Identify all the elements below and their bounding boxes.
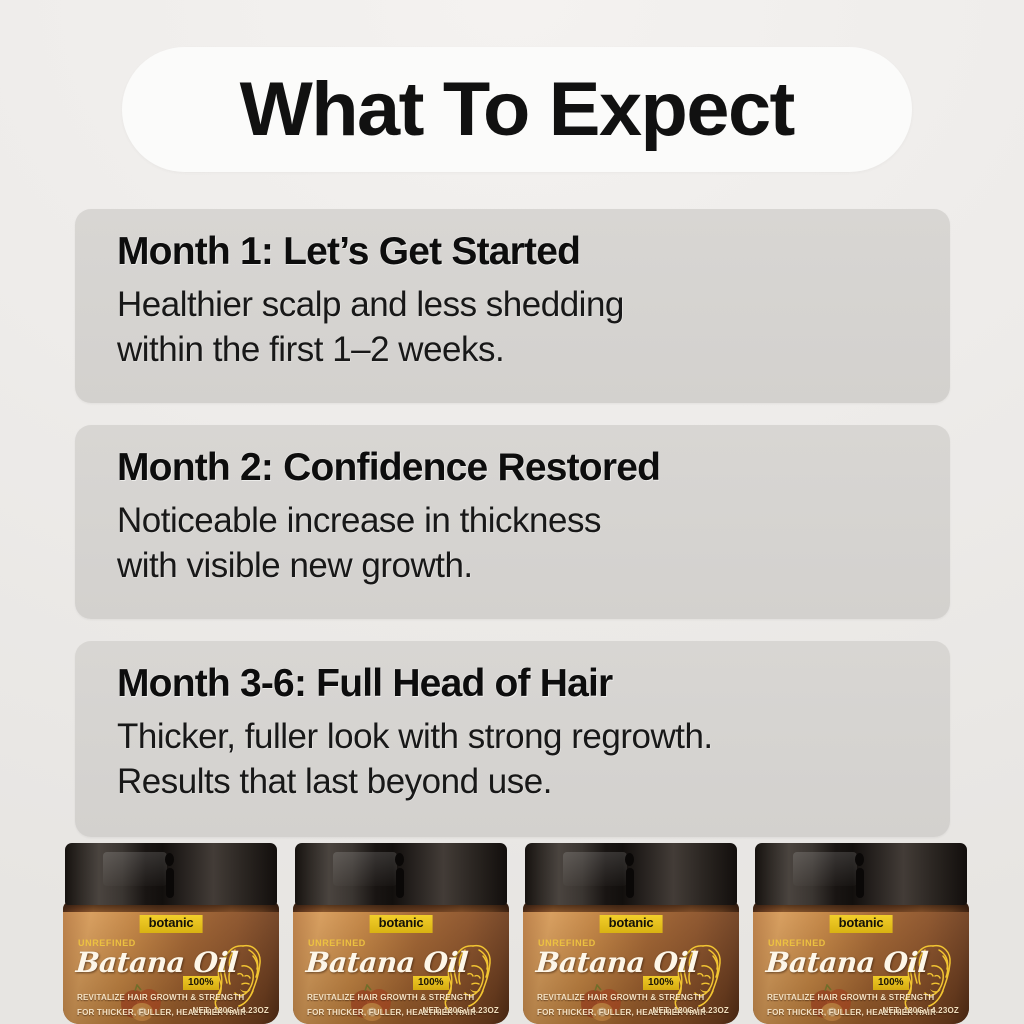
product-name: Batana Oil (535, 946, 699, 979)
card-content: Month 1: Let’s Get Started Healthier sca… (75, 209, 950, 372)
lid-highlight (793, 852, 857, 886)
lid-reflection-bar (396, 868, 404, 898)
purity-badge: 100% (183, 976, 219, 990)
jar-lid (525, 843, 737, 905)
product-jar: botanic UNREFINED Batana Oil 100% REVITA… (293, 843, 509, 1024)
lid-highlight (103, 852, 167, 886)
lid-reflection-dot (855, 853, 864, 866)
jar-label: botanic UNREFINED Batana Oil 100% REVITA… (523, 912, 739, 1024)
timeline-card-month-1: Month 1: Let’s Get Started Healthier sca… (75, 209, 950, 403)
label-claim: FOR ALL HAIR TYPE (307, 1021, 476, 1024)
jar-lid (295, 843, 507, 905)
lid-reflection-dot (625, 853, 634, 866)
product-jar-row: botanic UNREFINED Batana Oil 100% REVITA… (0, 843, 1024, 1024)
net-weight: NET: 120G / 4.23OZ (422, 1006, 499, 1015)
card-heading: Month 2: Confidence Restored (117, 447, 950, 489)
net-weight: NET: 120G / 4.23OZ (652, 1006, 729, 1015)
brand-badge: botanic (830, 915, 893, 933)
lid-reflection-dot (395, 853, 404, 866)
jar-body: botanic UNREFINED Batana Oil 100% REVITA… (753, 901, 969, 1024)
label-claim: FOR ALL HAIR TYPE (537, 1021, 706, 1024)
jar-lid (65, 843, 277, 905)
product-jar: botanic UNREFINED Batana Oil 100% REVITA… (753, 843, 969, 1024)
jar-body: botanic UNREFINED Batana Oil 100% REVITA… (523, 901, 739, 1024)
product-jar: botanic UNREFINED Batana Oil 100% REVITA… (523, 843, 739, 1024)
card-content: Month 3-6: Full Head of Hair Thicker, fu… (75, 641, 950, 804)
jar-body: botanic UNREFINED Batana Oil 100% REVITA… (63, 901, 279, 1024)
net-weight: NET: 120G / 4.23OZ (192, 1006, 269, 1015)
label-claim: REVITALIZE HAIR GROWTH & STRENGTH (307, 991, 476, 1006)
timeline-card-month-2: Month 2: Confidence Restored Noticeable … (75, 425, 950, 619)
label-claim: REVITALIZE HAIR GROWTH & STRENGTH (77, 991, 246, 1006)
product-name: Batana Oil (765, 946, 929, 979)
label-claim: FOR ALL HAIR TYPE (77, 1021, 246, 1024)
lid-highlight (563, 852, 627, 886)
product-jar: botanic UNREFINED Batana Oil 100% REVITA… (63, 843, 279, 1024)
brand-badge: botanic (370, 915, 433, 933)
brand-badge: botanic (140, 915, 203, 933)
jar-body: botanic UNREFINED Batana Oil 100% REVITA… (293, 901, 509, 1024)
card-body: Noticeable increase in thickness with vi… (117, 499, 950, 588)
card-content: Month 2: Confidence Restored Noticeable … (75, 425, 950, 588)
page-title-pill: What To Expect (122, 47, 912, 172)
label-claim: REVITALIZE HAIR GROWTH & STRENGTH (537, 991, 706, 1006)
page-title: What To Expect (240, 72, 794, 148)
what-to-expect-infographic: What To Expect Month 1: Let’s Get Starte… (0, 0, 1024, 1024)
lid-reflection-dot (165, 853, 174, 866)
purity-badge: 100% (643, 976, 679, 990)
card-heading: Month 1: Let’s Get Started (117, 231, 950, 273)
jar-label: botanic UNREFINED Batana Oil 100% REVITA… (63, 912, 279, 1024)
label-claim: FOR ALL HAIR TYPE (767, 1021, 936, 1024)
jar-lid (755, 843, 967, 905)
jar-label: botanic UNREFINED Batana Oil 100% REVITA… (293, 912, 509, 1024)
lid-reflection-bar (166, 868, 174, 898)
net-weight: NET: 120G / 4.23OZ (882, 1006, 959, 1015)
purity-badge: 100% (413, 976, 449, 990)
lid-reflection-bar (626, 868, 634, 898)
timeline-card-month-3-6: Month 3-6: Full Head of Hair Thicker, fu… (75, 641, 950, 837)
card-heading: Month 3-6: Full Head of Hair (117, 663, 950, 705)
jar-label: botanic UNREFINED Batana Oil 100% REVITA… (753, 912, 969, 1024)
product-name: Batana Oil (305, 946, 469, 979)
card-body: Healthier scalp and less shedding within… (117, 283, 950, 372)
brand-badge: botanic (600, 915, 663, 933)
lid-highlight (333, 852, 397, 886)
card-body: Thicker, fuller look with strong regrowt… (117, 715, 950, 804)
product-name: Batana Oil (75, 946, 239, 979)
purity-badge: 100% (873, 976, 909, 990)
lid-reflection-bar (856, 868, 864, 898)
label-claim: REVITALIZE HAIR GROWTH & STRENGTH (767, 991, 936, 1006)
